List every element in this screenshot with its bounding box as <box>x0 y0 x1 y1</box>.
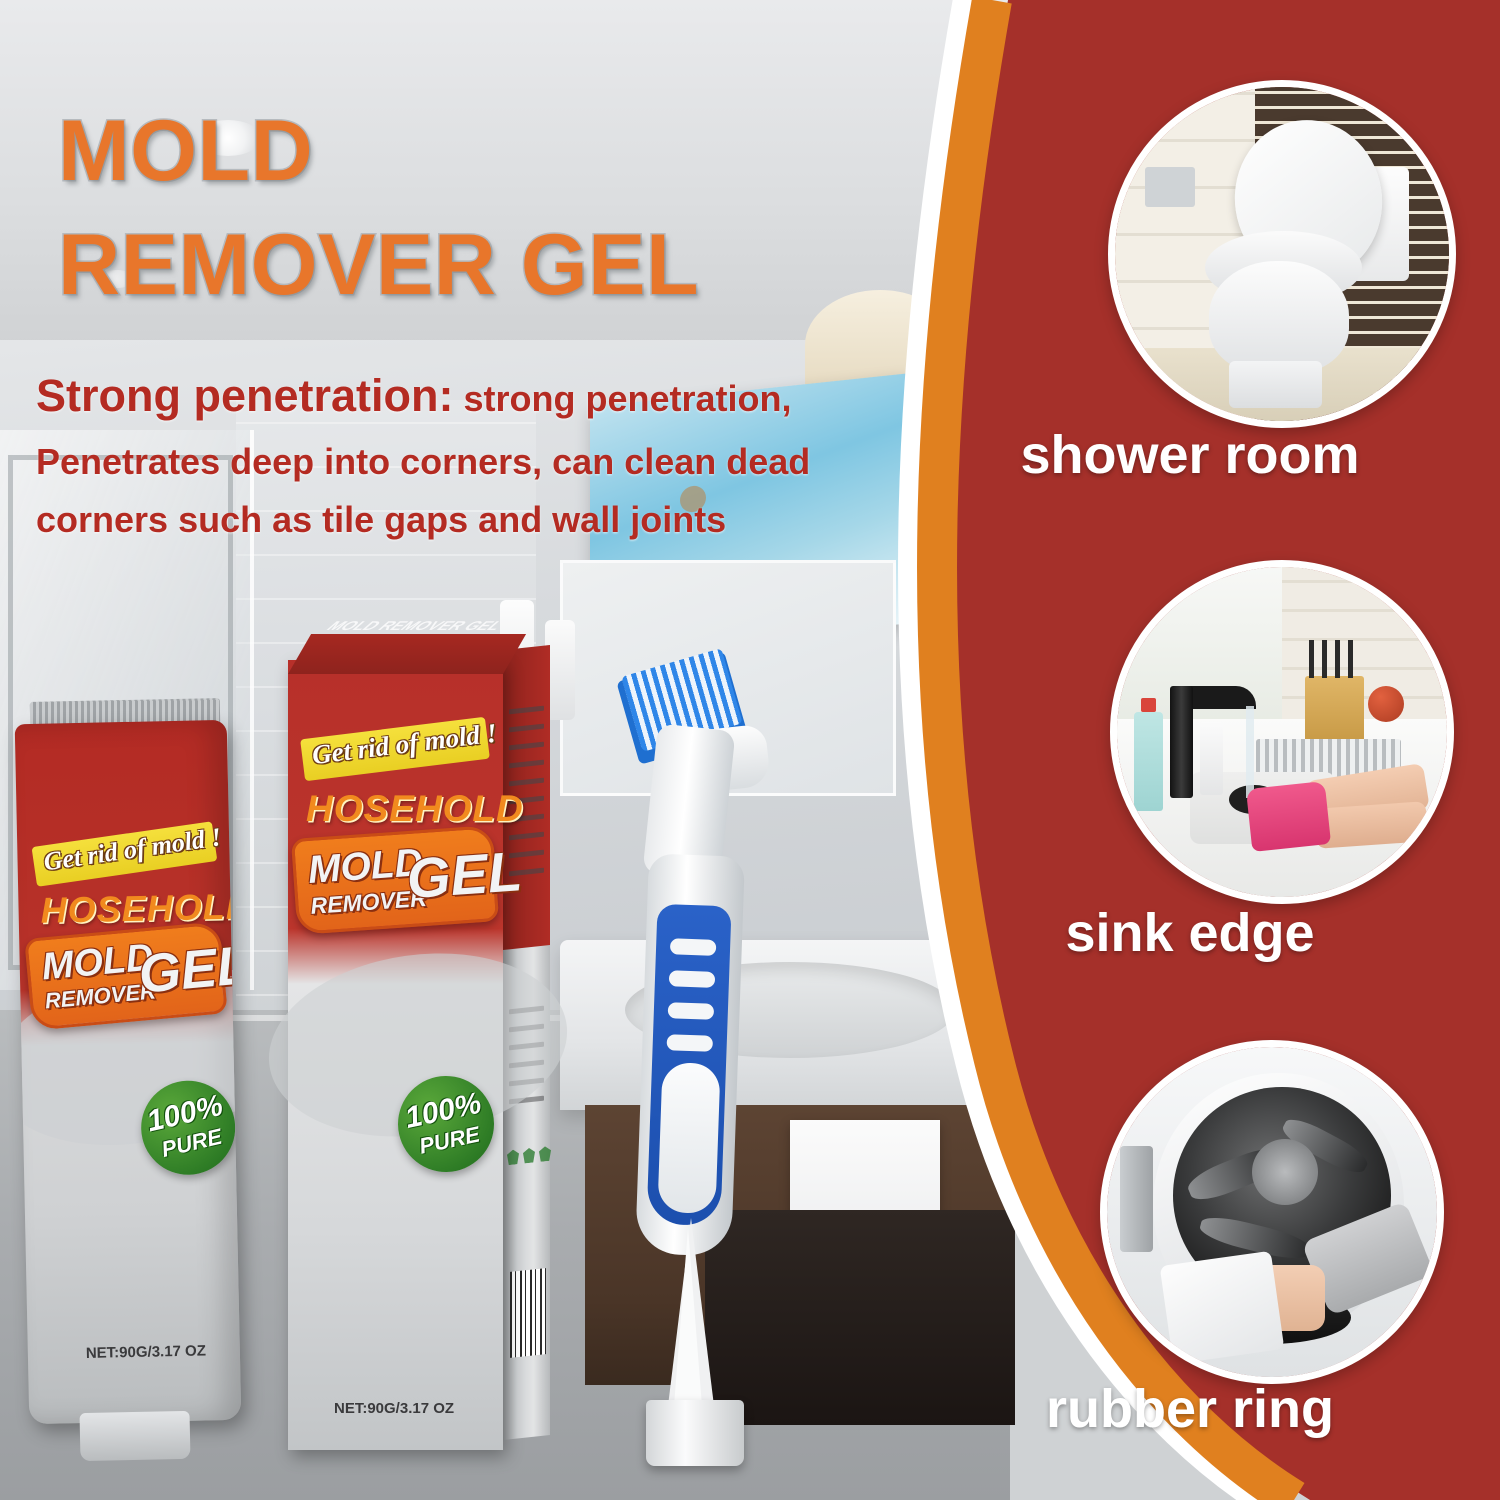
box-tagline-banner: Get rid of mold ! <box>300 717 490 781</box>
box-brand-name: HOSEHOLD <box>306 788 524 830</box>
tube-tagline: Get rid of mold ! <box>42 822 224 877</box>
sink-icon <box>1117 567 1447 897</box>
product-marketing-poster: MOLD REMOVER GEL Strong penetration: str… <box>0 0 1500 1500</box>
box-front-panel: MOLD REMOVER GEL Get rid of mold ! HOSEH… <box>288 660 503 1450</box>
cleaning-brush <box>590 655 780 1265</box>
brush-grip-inlay <box>657 1062 720 1214</box>
headline-line-1: MOLD <box>58 103 313 199</box>
applicator-nozzle <box>630 1218 760 1468</box>
tube-body: Get rid of mold ! HOSEHOLD MOLD REMOVER … <box>15 720 242 1424</box>
page-title: MOLD REMOVER GEL <box>58 95 878 322</box>
washing-machine-icon <box>1107 1047 1437 1377</box>
product-box: MOLD REMOVER GEL Get rid of mold ! HOSEH… <box>288 650 550 1460</box>
product-tube: Get rid of mold ! HOSEHOLD MOLD REMOVER … <box>22 700 237 1460</box>
box-name-gel: GEL <box>405 838 524 911</box>
tube-net-weight: NET:90G/3.17 OZ <box>86 1342 206 1362</box>
description-text: Strong penetration: strong penetration, … <box>36 360 936 550</box>
tube-product-badge: MOLD REMOVER GEL <box>24 921 228 1030</box>
nozzle-cone-highlight <box>674 1228 702 1406</box>
usage-photo-sink-edge <box>1110 560 1454 904</box>
tube-cap <box>80 1411 191 1461</box>
usage-caption-sink-edge: sink edge <box>880 902 1500 964</box>
usage-photo-shower-room <box>1108 80 1456 428</box>
box-net-weight: NET:90G/3.17 OZ <box>334 1400 454 1417</box>
box-top-flap: MOLD REMOVER GEL <box>288 634 526 674</box>
tube-tagline-banner: Get rid of mold ! <box>32 821 218 887</box>
box-tagline: Get rid of mold ! <box>310 718 498 771</box>
barcode <box>510 1268 546 1358</box>
description-lead: Strong penetration: <box>36 370 453 421</box>
toilet-icon <box>1115 87 1449 421</box>
nozzle-base-cap <box>646 1400 744 1466</box>
tube-name-gel: GEL <box>136 934 241 1006</box>
tube-brand-name: HOSEHOLD <box>40 885 241 931</box>
box-top-flap-text: MOLD REMOVER GEL <box>321 620 538 634</box>
usage-caption-rubber-ring: rubber ring <box>880 1378 1500 1440</box>
usage-caption-shower-room: shower room <box>880 424 1500 486</box>
usage-photo-rubber-ring <box>1100 1040 1444 1384</box>
headline-line-2: REMOVER GEL <box>58 209 878 323</box>
box-product-badge: MOLD REMOVER GEL <box>291 825 499 935</box>
